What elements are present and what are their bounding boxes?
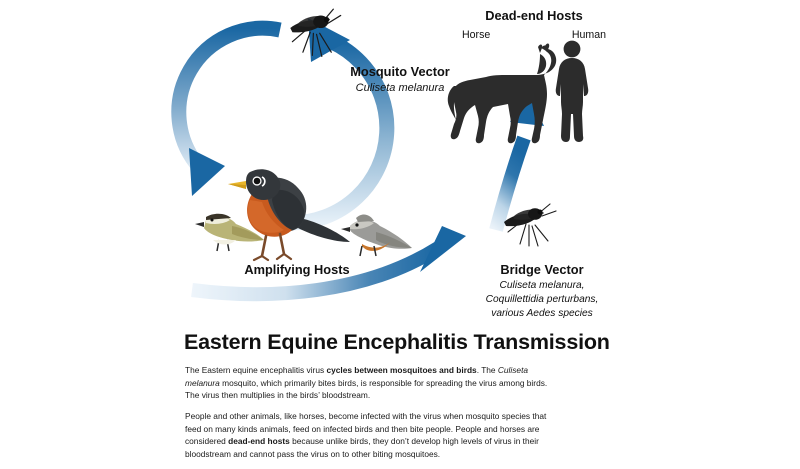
robin-bird-icon xyxy=(228,169,350,260)
label-mosquito-vector: Mosquito Vector Culiseta melanura xyxy=(310,64,490,95)
label-bridge-vector: Bridge Vector Culiseta melanura, Coquill… xyxy=(462,262,622,321)
page-title: Eastern Equine Encephalitis Transmission xyxy=(184,330,620,355)
dead-end-hosts-heading: Dead-end Hosts xyxy=(448,8,620,24)
infographic-canvas: Mosquito Vector Culiseta melanura Bridge… xyxy=(0,0,800,450)
host-label-human: Human xyxy=(572,29,606,42)
human-silhouette-icon xyxy=(556,41,589,142)
caption-paragraph-2: People and other animals, like horses, b… xyxy=(185,410,553,461)
caption-block: Eastern Equine Encephalitis Transmission… xyxy=(180,330,620,469)
bridge-vector-heading: Bridge Vector xyxy=(462,262,622,278)
mosquito-icon xyxy=(504,204,556,246)
mosquito-vector-heading: Mosquito Vector xyxy=(310,64,490,80)
label-amplifying-hosts: Amplifying Hosts xyxy=(202,262,392,278)
bridge-vector-species-2: Coquillettidia perturbans, xyxy=(462,294,622,306)
caption-paragraph-1: The Eastern equine encephalitis virus cy… xyxy=(185,364,553,402)
titmouse-bird-icon xyxy=(341,214,412,256)
amplifying-hosts-heading: Amplifying Hosts xyxy=(202,262,392,278)
bridge-vector-species-3: various Aedes species xyxy=(462,308,622,320)
transmission-cycle-diagram: Mosquito Vector Culiseta melanura Bridge… xyxy=(180,0,620,328)
dead-end-hosts-sublabels: Horse Human xyxy=(448,29,620,42)
mosquito-icon xyxy=(290,9,340,56)
mosquito-vector-species: Culiseta melanura xyxy=(310,82,490,95)
bridge-vector-species-1: Culiseta melanura, xyxy=(462,280,622,292)
eee-transmission-infographic: Mosquito Vector Culiseta melanura Bridge… xyxy=(180,0,620,450)
host-label-horse: Horse xyxy=(462,29,490,42)
label-dead-end-hosts: Dead-end Hosts Horse Human xyxy=(448,8,620,42)
